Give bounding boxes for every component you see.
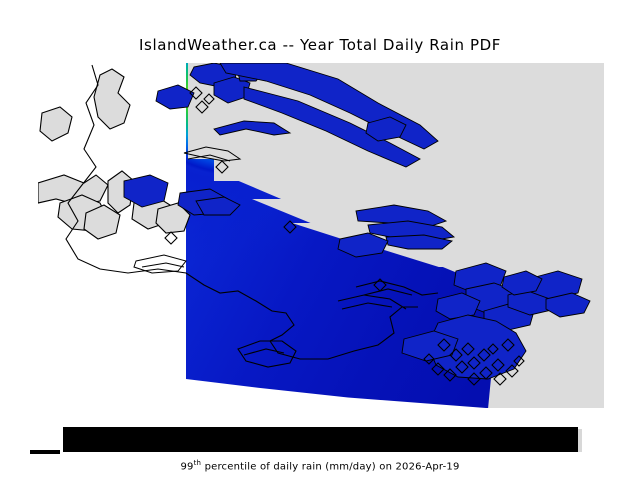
- page-title: IslandWeather.ca -- Year Total Daily Rai…: [0, 36, 640, 54]
- colorbar-right-edge: [578, 429, 582, 452]
- colorbar-caption: 99th percentile of daily rain (mm/day) o…: [0, 459, 640, 472]
- coastline-vector-layer: [38, 63, 604, 408]
- colorbar-gradient: [63, 427, 578, 452]
- inland-water-bodies: [124, 63, 590, 379]
- colorbar-pointer-tail: [30, 450, 60, 454]
- colorbar[interactable]: [63, 427, 578, 452]
- caption-percentile-number: 99: [180, 461, 193, 472]
- map-panel[interactable]: [38, 63, 604, 408]
- caption-date: 2026-Apr-19: [396, 461, 460, 472]
- caption-middle-text: percentile of daily rain (mm/day) on: [201, 461, 395, 472]
